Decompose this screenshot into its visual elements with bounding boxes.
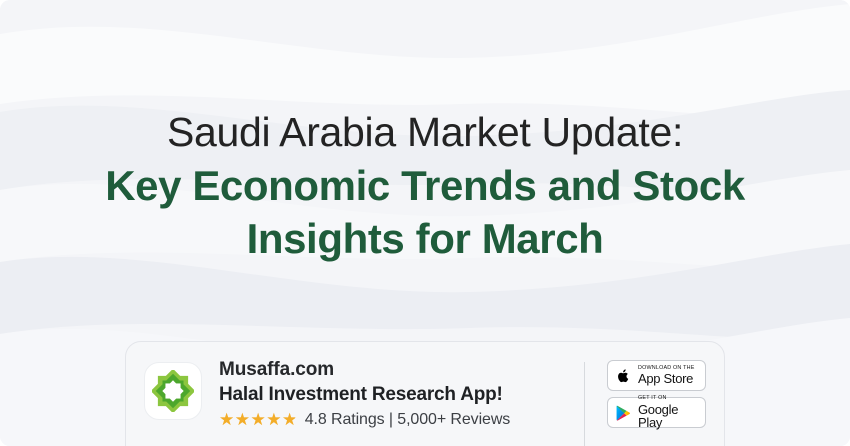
apple-icon bbox=[614, 368, 633, 384]
app-store-badge[interactable]: Download on the App Store bbox=[607, 360, 706, 391]
rating-text: 4.8 Ratings | 5,000+ Reviews bbox=[305, 411, 510, 429]
headline-subtitle: Saudi Arabia Market Update: bbox=[0, 108, 850, 156]
store-badges: Download on the App Store bbox=[607, 358, 706, 428]
google-play-small-label: Get it on bbox=[638, 396, 699, 401]
brand-tagline: Halal Investment Research App! bbox=[219, 383, 574, 407]
rating-row: ★★★★★ ★★★★★ 4.8 Ratings | 5,000+ Reviews bbox=[219, 411, 574, 429]
rating-stars-icon: ★★★★★ ★★★★★ bbox=[219, 411, 298, 428]
app-store-badge-labels: Download on the App Store bbox=[638, 366, 695, 385]
app-store-big-label: App Store bbox=[638, 372, 695, 385]
musaffa-rosette-logo-icon bbox=[152, 370, 194, 412]
marketing-banner: Saudi Arabia Market Update: Key Economic… bbox=[0, 0, 850, 446]
card-divider bbox=[584, 362, 585, 446]
google-play-big-label: Google Play bbox=[638, 403, 699, 429]
app-card-text: Musaffa.com Halal Investment Research Ap… bbox=[219, 358, 574, 429]
google-play-badge-labels: Get it on Google Play bbox=[638, 396, 699, 428]
headline-title: Key Economic Trends and Stock Insights f… bbox=[0, 160, 850, 266]
brand-name: Musaffa.com bbox=[219, 358, 574, 382]
app-logo-tile bbox=[144, 362, 202, 420]
google-play-icon bbox=[614, 405, 633, 421]
headline-block: Saudi Arabia Market Update: Key Economic… bbox=[0, 108, 850, 266]
app-promo-card: Musaffa.com Halal Investment Research Ap… bbox=[125, 341, 725, 446]
rating-stars-foreground: ★★★★★ bbox=[219, 411, 295, 428]
google-play-badge[interactable]: Get it on Google Play bbox=[607, 397, 706, 428]
